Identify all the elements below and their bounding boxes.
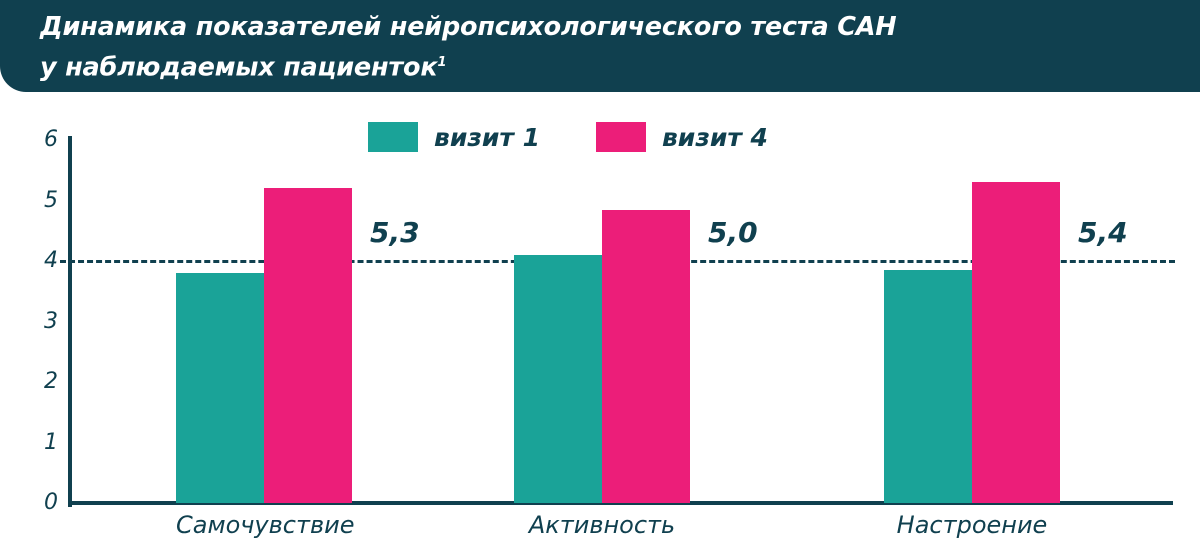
y-tick-label-6: 6: [18, 129, 58, 151]
value-label-2: 5,0: [708, 219, 758, 247]
header-bar: Динамика показателей нейропсихологическо…: [0, 0, 1200, 92]
y-tick-label-3: 3: [18, 311, 58, 333]
y-tick-label-5: 5: [18, 190, 58, 212]
y-tick-label-1: 1: [18, 432, 58, 454]
legend-item-visit1[interactable]: визит 1: [368, 122, 540, 152]
title-line-1: Динамика показателей нейропсихологическо…: [40, 12, 896, 42]
title-line-2: у наблюдаемых пациенток: [40, 53, 437, 83]
title-footnote-marker: 1: [437, 55, 446, 70]
y-tick-label-2: 2: [18, 371, 58, 393]
legend-label-visit4: визит 4: [662, 125, 768, 150]
bar-chart: визит 1 визит 4 0123456 5,35,05,4 Самочу…: [0, 92, 1200, 560]
bar-visit4-1[interactable]: [264, 188, 352, 503]
value-label-1: 5,3: [370, 219, 420, 247]
legend-swatch-visit1: [368, 122, 418, 152]
y-axis: [68, 136, 72, 507]
legend-item-visit4[interactable]: визит 4: [596, 122, 768, 152]
x-category-label-2: Активность: [514, 510, 690, 540]
x-category-label-3: Настроение: [884, 510, 1060, 540]
bar-visit1-2[interactable]: [514, 255, 602, 503]
bar-visit1-1[interactable]: [176, 273, 264, 503]
legend-swatch-visit4: [596, 122, 646, 152]
chart-legend: визит 1 визит 4: [368, 122, 768, 152]
y-tick-label-0: 0: [18, 492, 58, 514]
bar-visit1-3[interactable]: [884, 270, 972, 503]
value-label-3: 5,4: [1078, 219, 1128, 247]
bar-visit4-2[interactable]: [602, 210, 690, 503]
legend-label-visit1: визит 1: [434, 125, 540, 150]
bar-visit4-3[interactable]: [972, 182, 1060, 503]
x-category-label-1: Самочувствие: [176, 510, 352, 540]
page-title: Динамика показателей нейропсихологическо…: [40, 10, 1160, 86]
y-tick-label-4: 4: [18, 250, 58, 272]
